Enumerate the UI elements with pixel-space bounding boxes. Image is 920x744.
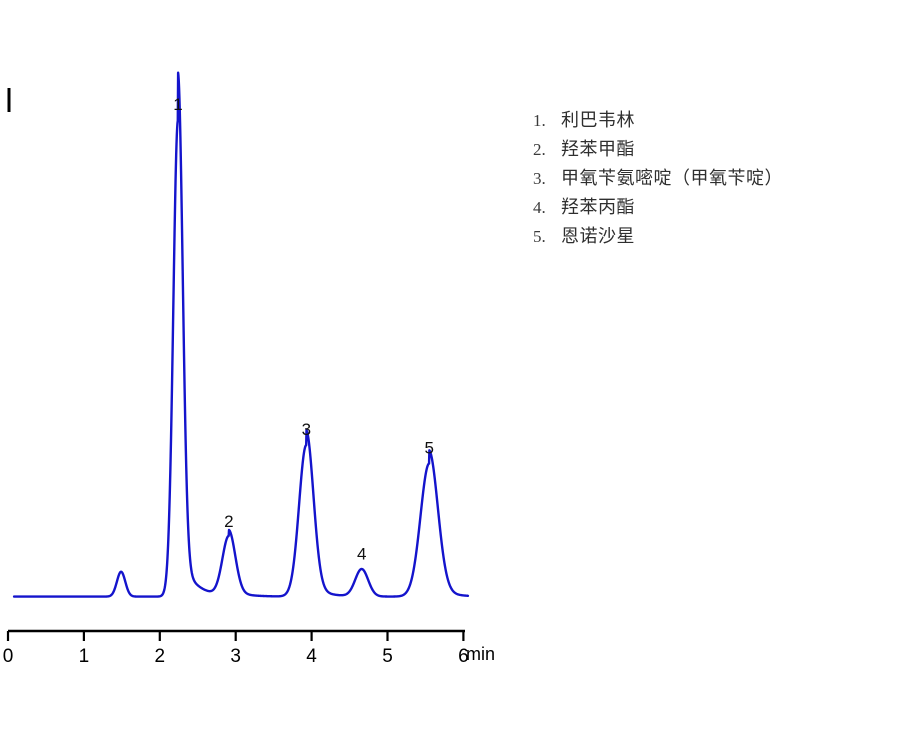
peak-label-3: 3 xyxy=(302,420,311,439)
list-item: 4. 羟苯丙酯 xyxy=(533,193,863,222)
signal-trace xyxy=(14,73,468,597)
list-item: 2. 羟苯甲酯 xyxy=(533,135,863,164)
x-axis-ticks xyxy=(8,631,463,641)
legend-item-label: 羟苯丙酯 xyxy=(561,193,635,219)
legend-item-index: 4. xyxy=(533,198,561,218)
chromatogram-panel: 12345 0123456 min xyxy=(0,0,520,700)
chromatogram-plot: 12345 0123456 min xyxy=(0,0,520,700)
peak-label-4: 4 xyxy=(357,544,366,563)
peak-legend: 1. 利巴韦林 2. 羟苯甲酯 3. 甲氧苄氨嘧啶（甲氧苄啶） 4. 羟苯丙酯 … xyxy=(533,106,863,251)
x-axis-tick-label: 2 xyxy=(155,646,166,667)
signal-trace-group xyxy=(14,73,468,597)
x-axis-tick-label: 0 xyxy=(3,646,14,667)
x-axis: 0123456 min xyxy=(3,631,495,667)
peak-label-5: 5 xyxy=(424,439,433,458)
peak-labels: 12345 xyxy=(173,95,434,563)
x-axis-unit-label: min xyxy=(466,644,495,664)
legend-item-index: 3. xyxy=(533,169,561,189)
legend-item-label: 甲氧苄氨嘧啶（甲氧苄啶） xyxy=(561,164,783,190)
x-axis-tick-label: 3 xyxy=(230,646,241,667)
legend-item-label: 恩诺沙星 xyxy=(561,222,635,248)
list-item: 1. 利巴韦林 xyxy=(533,106,863,135)
x-axis-tick-labels: 0123456 xyxy=(3,646,469,667)
legend-item-index: 2. xyxy=(533,140,561,160)
legend-item-label: 羟苯甲酯 xyxy=(561,135,635,161)
x-axis-tick-label: 5 xyxy=(382,646,393,667)
x-axis-tick-label: 4 xyxy=(306,646,317,667)
peak-label-2: 2 xyxy=(224,512,233,531)
legend-item-label: 利巴韦林 xyxy=(561,106,635,132)
peak-label-1: 1 xyxy=(173,95,182,114)
x-axis-tick-label: 1 xyxy=(79,646,90,667)
legend-item-index: 5. xyxy=(533,227,561,247)
legend-item-index: 1. xyxy=(533,111,561,131)
list-item: 5. 恩诺沙星 xyxy=(533,222,863,251)
list-item: 3. 甲氧苄氨嘧啶（甲氧苄啶） xyxy=(533,164,863,193)
